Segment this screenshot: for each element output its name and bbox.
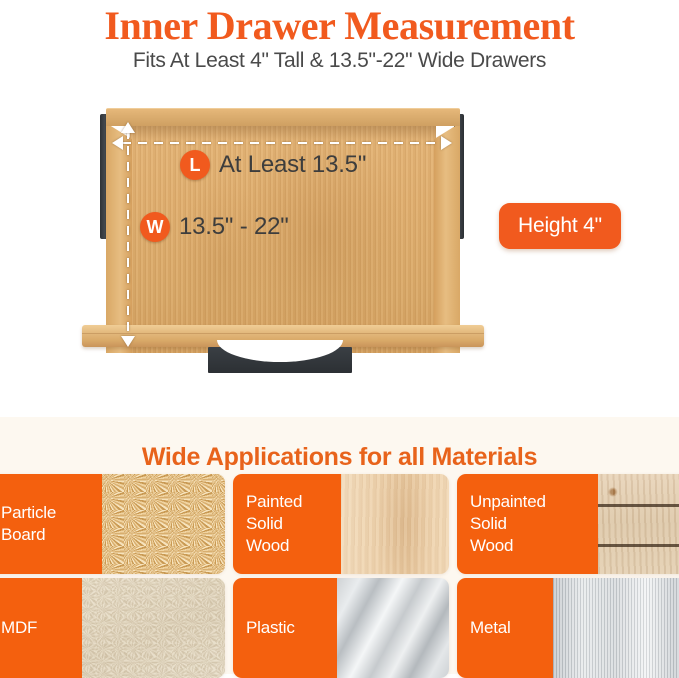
height-badge: Height 4": [499, 203, 621, 249]
material-label-line: Wood: [246, 535, 328, 557]
page-title: Inner Drawer Measurement: [0, 2, 679, 49]
material-card-metal: Metal: [457, 578, 679, 678]
material-swatch-metal: [553, 578, 679, 678]
material-card-mdf: MDF: [0, 578, 225, 678]
material-label-line: MDF: [1, 617, 69, 639]
material-label-line: Solid: [246, 513, 328, 535]
material-label-line: Plastic: [246, 617, 324, 639]
material-swatch-plastic: [337, 578, 449, 678]
material-label-line: Metal: [470, 617, 540, 639]
horizontal-dimension-line: [122, 142, 442, 144]
materials-grid: Particle Board Painted Solid Wood Un: [0, 474, 679, 678]
length-dimension-label: L At Least 13.5": [180, 150, 366, 180]
width-badge-icon: W: [140, 212, 170, 242]
drawer-interior-shadow: [130, 125, 436, 141]
material-card-unpainted-solid-wood: Unpainted Solid Wood: [457, 474, 679, 574]
material-label-mdf: MDF: [0, 578, 82, 678]
material-swatch-mdf: [82, 578, 225, 678]
materials-row-2: MDF Plastic Metal: [0, 578, 679, 678]
material-swatch-particle-board: [102, 474, 225, 574]
material-label-line: Painted: [246, 491, 328, 513]
drawer-illustration: L At Least 13.5" W 13.5" - 22": [78, 100, 488, 380]
drawer-wall-right: [434, 123, 460, 353]
infographic-page: Inner Drawer Measurement Fits At Least 4…: [0, 0, 679, 674]
material-label-line: Board: [1, 524, 89, 546]
material-label-line: Wood: [470, 535, 585, 557]
material-card-particle-board: Particle Board: [0, 474, 225, 574]
material-label-plastic: Plastic: [233, 578, 337, 678]
measurement-section: Inner Drawer Measurement Fits At Least 4…: [0, 0, 679, 417]
materials-row-1: Particle Board Painted Solid Wood Un: [0, 474, 679, 574]
arrow-down-icon: [121, 336, 135, 347]
arrow-left-icon: [112, 136, 123, 150]
width-dimension-label: W 13.5" - 22": [140, 212, 289, 242]
length-dimension-text: At Least 13.5": [219, 151, 366, 179]
material-label-line: Particle: [1, 502, 89, 524]
material-label-line: Unpainted: [470, 491, 585, 513]
applications-title: Wide Applications for all Materials: [0, 443, 679, 472]
material-label-particle-board: Particle Board: [0, 474, 102, 574]
applications-section: Wide Applications for all Materials Part…: [0, 417, 679, 674]
material-label-painted-solid-wood: Painted Solid Wood: [233, 474, 341, 574]
length-badge-icon: L: [180, 150, 210, 180]
drawer-front-board-seam: [82, 333, 484, 334]
material-swatch-unpainted-solid-wood: [598, 474, 679, 574]
material-card-plastic: Plastic: [233, 578, 449, 678]
arrow-up-icon: [121, 122, 135, 133]
material-swatch-painted-solid-wood: [341, 474, 449, 574]
width-dimension-text: 13.5" - 22": [179, 213, 289, 241]
material-card-painted-solid-wood: Painted Solid Wood: [233, 474, 449, 574]
material-label-unpainted-solid-wood: Unpainted Solid Wood: [457, 474, 598, 574]
drawer-top-rim: [106, 108, 460, 126]
arrow-right-icon: [441, 136, 452, 150]
material-label-metal: Metal: [457, 578, 553, 678]
page-subtitle: Fits At Least 4" Tall & 13.5"-22" Wide D…: [0, 49, 679, 73]
material-label-line: Solid: [470, 513, 585, 535]
vertical-dimension-line: [127, 130, 129, 338]
